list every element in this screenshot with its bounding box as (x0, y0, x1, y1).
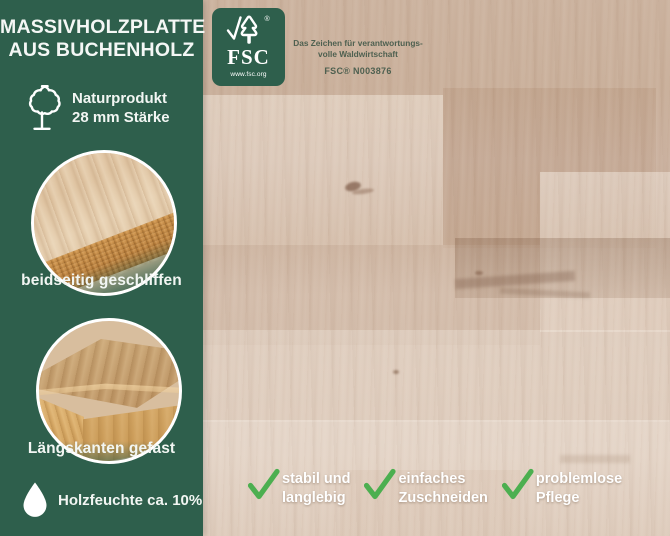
natural-product-label: Naturprodukt 28 mm Stärke (72, 89, 170, 127)
page-title: MASSIVHOLZPLATTE AUS BUCHENHOLZ (0, 16, 203, 62)
left-info-panel: MASSIVHOLZPLATTE AUS BUCHENHOLZ Naturpro… (0, 0, 203, 536)
headline-line-1: MASSIVHOLZPLATTE (0, 16, 205, 38)
benefit-item: einfaches Zuschneiden (364, 470, 487, 508)
fsc-claim-text: Das Zeichen für verantwortungs- volle Wa… (278, 38, 438, 60)
svg-text:®: ® (264, 15, 270, 23)
check-icon (364, 468, 396, 502)
benefit-label: stabil und langlebig (282, 470, 350, 508)
feature-caption-2: Längskanten gefast (0, 440, 203, 458)
benefit-line-1: problemlose (536, 470, 622, 489)
benefit-item: problemlose Pflege (502, 470, 622, 508)
product-infographic: MASSIVHOLZPLATTE AUS BUCHENHOLZ Naturpro… (0, 0, 670, 536)
benefit-line-2: Pflege (536, 489, 622, 508)
moisture-feature: Holzfeuchte ca. 10% (20, 478, 203, 522)
natural-product-feature: Naturprodukt 28 mm Stärke (20, 80, 195, 136)
benefit-line-2: langlebig (282, 489, 350, 508)
benefit-line-1: einfaches (398, 470, 487, 489)
fsc-license-code: FSC® N003876 (278, 66, 438, 76)
fsc-logo-badge: ® FSC www.fsc.org (212, 8, 285, 86)
headline-line-2: AUS BUCHENHOLZ (0, 39, 203, 62)
benefit-item: stabil und langlebig (248, 470, 350, 508)
water-drop-icon (20, 481, 50, 519)
moisture-label: Holzfeuchte ca. 10% (58, 492, 202, 509)
fsc-url: www.fsc.org (230, 71, 266, 78)
natural-product-line-1: Naturprodukt (72, 89, 170, 108)
fsc-tree-checkmark-icon: ® (224, 12, 274, 45)
wood-streak (560, 455, 630, 463)
benefits-bar: stabil und langlebig einfaches Zuschneid… (248, 470, 670, 530)
check-icon (502, 468, 534, 502)
wood-knot (475, 271, 483, 275)
natural-product-line-2: 28 mm Stärke (72, 108, 170, 127)
benefit-line-1: stabil und (282, 470, 350, 489)
benefit-label: einfaches Zuschneiden (398, 470, 487, 508)
check-icon (248, 468, 280, 502)
feature-caption-1: beidseitig geschliffen (0, 272, 203, 290)
fsc-claim-line-2: volle Waldwirtschaft (318, 49, 398, 59)
benefit-label: problemlose Pflege (536, 470, 622, 508)
fsc-claim-line-1: Das Zeichen für verantwortungs- (293, 38, 423, 48)
wood-knot (393, 370, 399, 374)
tree-icon (20, 82, 64, 134)
benefit-line-2: Zuschneiden (398, 489, 487, 508)
fsc-wordmark: FSC (227, 47, 270, 68)
